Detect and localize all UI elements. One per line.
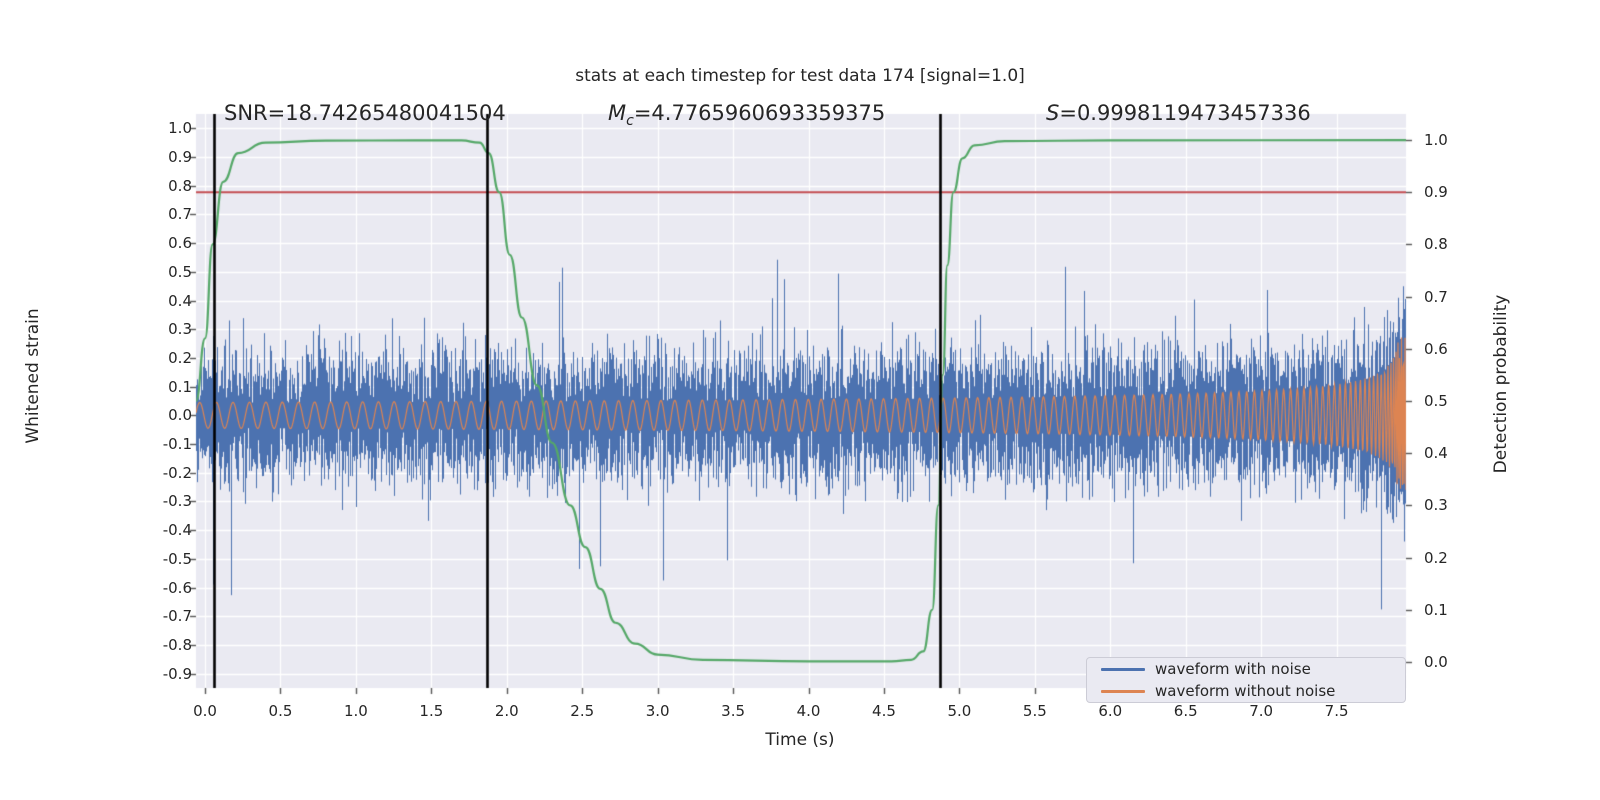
- x-tick-label: 1.5: [401, 702, 461, 720]
- y-tick-label-right: 0.4: [1424, 444, 1484, 462]
- y-tick-label-left: -0.3: [132, 492, 192, 510]
- x-tick-label: 5.5: [1005, 702, 1065, 720]
- legend-label: waveform without noise: [1155, 682, 1335, 700]
- y-tick-label-left: -0.4: [132, 521, 192, 539]
- y-tick-label-right: 0.9: [1424, 183, 1484, 201]
- chart-title: stats at each timestep for test data 174…: [0, 66, 1600, 86]
- annotation-chirp-mass: Mc=4.7765960693359375: [608, 101, 885, 129]
- x-tick-label: 4.0: [779, 702, 839, 720]
- y-tick-label-right: 0.8: [1424, 235, 1484, 253]
- y-tick-label-right: 0.2: [1424, 549, 1484, 567]
- x-tick-label: 0.0: [175, 702, 235, 720]
- y-tick-label-left: -0.6: [132, 579, 192, 597]
- annotation-score-text: S=0.9998119473457336: [1046, 101, 1311, 125]
- y-tick-label-left: -0.2: [132, 464, 192, 482]
- x-tick-label: 4.5: [854, 702, 914, 720]
- legend-label: waveform with noise: [1155, 660, 1311, 678]
- legend-line-icon: [1101, 690, 1145, 693]
- y-tick-label-right: 0.5: [1424, 392, 1484, 410]
- x-tick-label: 6.0: [1080, 702, 1140, 720]
- legend-item[interactable]: waveform with noise: [1087, 658, 1405, 680]
- x-axis-label: Time (s): [0, 730, 1600, 750]
- y-tick-label-right: 0.1: [1424, 601, 1484, 619]
- y-tick-label-right: 0.0: [1424, 653, 1484, 671]
- annotation-chirp-mass-text: Mc=4.7765960693359375: [608, 101, 885, 125]
- x-tick-label: 7.5: [1307, 702, 1367, 720]
- x-tick-label: 2.0: [477, 702, 537, 720]
- annotation-score: S=0.9998119473457336: [1046, 101, 1311, 125]
- y-tick-label-left: 1.0: [132, 119, 192, 137]
- y-tick-label-left: 0.3: [132, 320, 192, 338]
- y-tick-label-left: 0.7: [132, 205, 192, 223]
- y-axis-label-right: Detection probability: [1491, 274, 1511, 494]
- x-tick-label: 0.5: [250, 702, 310, 720]
- y-tick-label-left: -0.5: [132, 550, 192, 568]
- y-tick-label-left: 0.9: [132, 148, 192, 166]
- y-tick-label-left: 0.2: [132, 349, 192, 367]
- x-tick-label: 6.5: [1156, 702, 1216, 720]
- x-tick-label: 3.0: [628, 702, 688, 720]
- x-tick-label: 3.5: [703, 702, 763, 720]
- y-tick-label-left: -0.7: [132, 607, 192, 625]
- annotation-snr-text: SNR=18.74265480041504: [224, 101, 506, 125]
- y-axis-label-left: Whitened strain: [23, 266, 43, 486]
- y-tick-label-right: 0.6: [1424, 340, 1484, 358]
- legend-item[interactable]: waveform without noise: [1087, 680, 1405, 702]
- x-tick-label: 7.0: [1231, 702, 1291, 720]
- legend-line-icon: [1101, 668, 1145, 671]
- legend[interactable]: waveform with noisewaveform without nois…: [1086, 657, 1406, 703]
- x-tick-label: 5.0: [929, 702, 989, 720]
- annotation-snr: SNR=18.74265480041504: [224, 101, 506, 125]
- y-tick-label-left: 0.8: [132, 177, 192, 195]
- y-tick-label-left: -0.9: [132, 665, 192, 683]
- y-tick-label-left: -0.1: [132, 435, 192, 453]
- y-tick-label-right: 0.3: [1424, 496, 1484, 514]
- y-tick-label-left: 0.0: [132, 406, 192, 424]
- y-tick-label-left: 0.4: [132, 292, 192, 310]
- y-tick-label-left: -0.8: [132, 636, 192, 654]
- x-tick-label: 2.5: [552, 702, 612, 720]
- y-tick-label-left: 0.1: [132, 378, 192, 396]
- y-tick-label-left: 0.5: [132, 263, 192, 281]
- x-tick-label: 1.0: [326, 702, 386, 720]
- y-tick-label-right: 1.0: [1424, 131, 1484, 149]
- y-tick-label-right: 0.7: [1424, 288, 1484, 306]
- chart-figure: stats at each timestep for test data 174…: [0, 0, 1600, 800]
- y-tick-label-left: 0.6: [132, 234, 192, 252]
